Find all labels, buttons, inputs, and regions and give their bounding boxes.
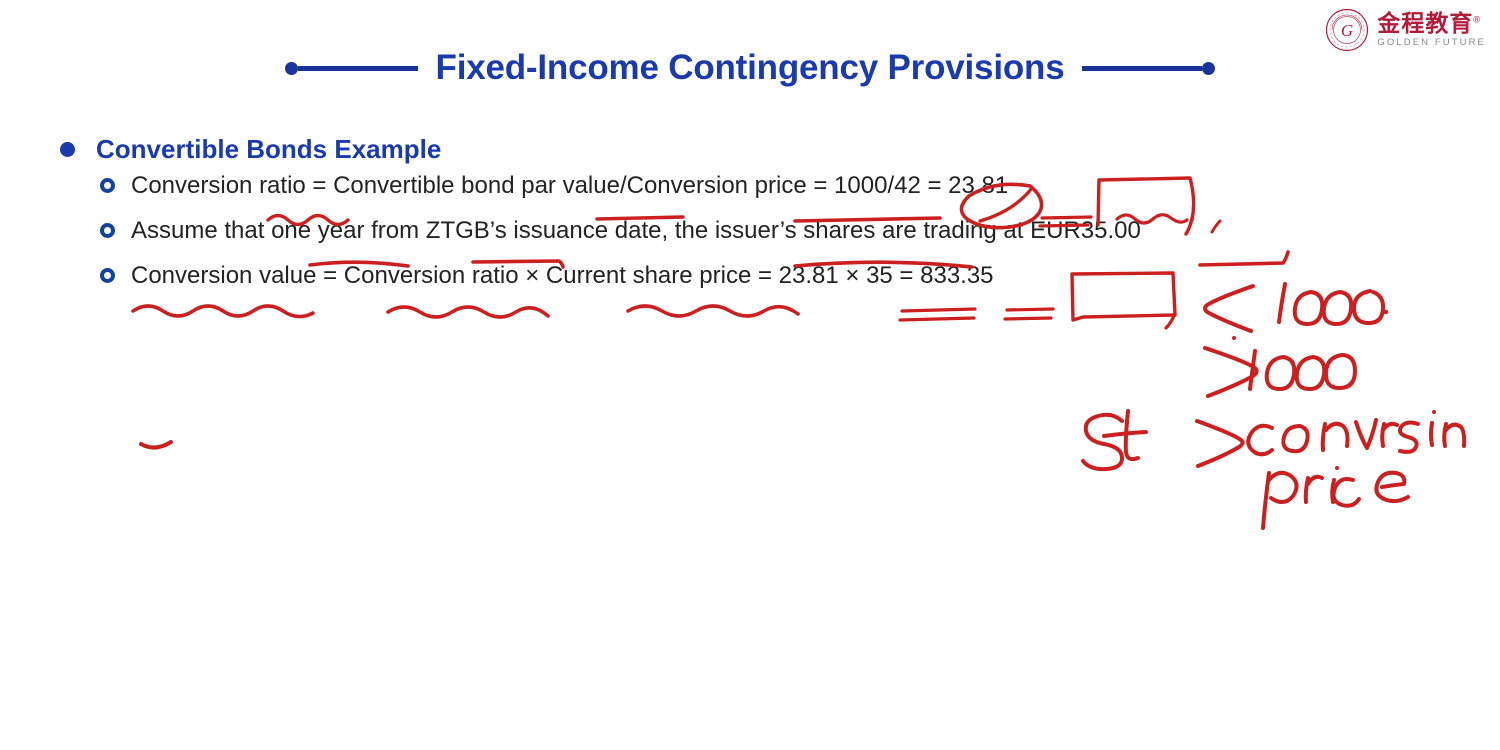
title-rule-left	[285, 62, 418, 75]
slide-content: Convertible Bonds Example Conversion rat…	[0, 128, 1500, 305]
squiggle-under-current-share-price	[628, 306, 798, 316]
bullet-ring-icon	[100, 223, 115, 238]
double-underline-35-top	[1007, 309, 1053, 310]
main-bullet-convertible-bonds-example: Convertible Bonds Example	[0, 128, 1500, 170]
stray-ink-mark	[141, 442, 171, 448]
double-underline-23-81-top	[902, 309, 975, 311]
title-rule-right	[1082, 62, 1215, 75]
bullet-ring-icon	[100, 178, 115, 193]
svg-text:G: G	[1341, 21, 1353, 40]
registered-mark-icon: ®	[1473, 15, 1481, 25]
sub-bullet-conversion-ratio: Conversion ratio = Convertible bond par …	[0, 170, 1500, 215]
box-tail-833-35	[1166, 313, 1175, 328]
bullet-ring-icon	[100, 268, 115, 283]
sub-bullet-text: Conversion value = Conversion ratio × Cu…	[131, 260, 994, 292]
handwriting-greater-than-1000	[1205, 336, 1355, 396]
page-title: Fixed-Income Contingency Provisions	[418, 48, 1083, 88]
title-bar-left-icon	[298, 66, 418, 71]
sub-bullet-text: Conversion ratio = Convertible bond par …	[131, 170, 1008, 202]
sub-bullet-text: Assume that one year from ZTGB’s issuanc…	[131, 215, 1141, 247]
sub-bullet-share-price-assumption: Assume that one year from ZTGB’s issuanc…	[0, 215, 1500, 260]
double-underline-35-bottom	[1005, 318, 1051, 319]
double-underline-23-81-bottom	[900, 318, 974, 320]
handwriting-st-greater-conversion-price	[1083, 410, 1464, 528]
ink-annotation-layer	[0, 0, 1500, 750]
main-bullet-label: Convertible Bonds Example	[96, 134, 441, 165]
squiggle-under-conversion-value	[133, 306, 313, 317]
slide-title-row: Fixed-Income Contingency Provisions	[0, 48, 1500, 88]
logo-chinese-name: 金程教育®	[1377, 12, 1486, 35]
sub-bullet-conversion-value: Conversion value = Conversion ratio × Cu…	[0, 260, 1500, 305]
seal-icon: G	[1325, 8, 1369, 52]
title-bar-right-icon	[1082, 66, 1202, 71]
logo-chinese-text: 金程教育	[1377, 10, 1473, 36]
title-dot-left-icon	[285, 62, 298, 75]
brand-logo: G 金程教育® GOLDEN FUTURE	[1325, 8, 1486, 52]
squiggle-under-conversion-ratio	[388, 307, 548, 317]
title-dot-right-icon	[1202, 62, 1215, 75]
bullet-disc-icon	[60, 142, 75, 157]
logo-english-name: GOLDEN FUTURE	[1377, 38, 1486, 48]
